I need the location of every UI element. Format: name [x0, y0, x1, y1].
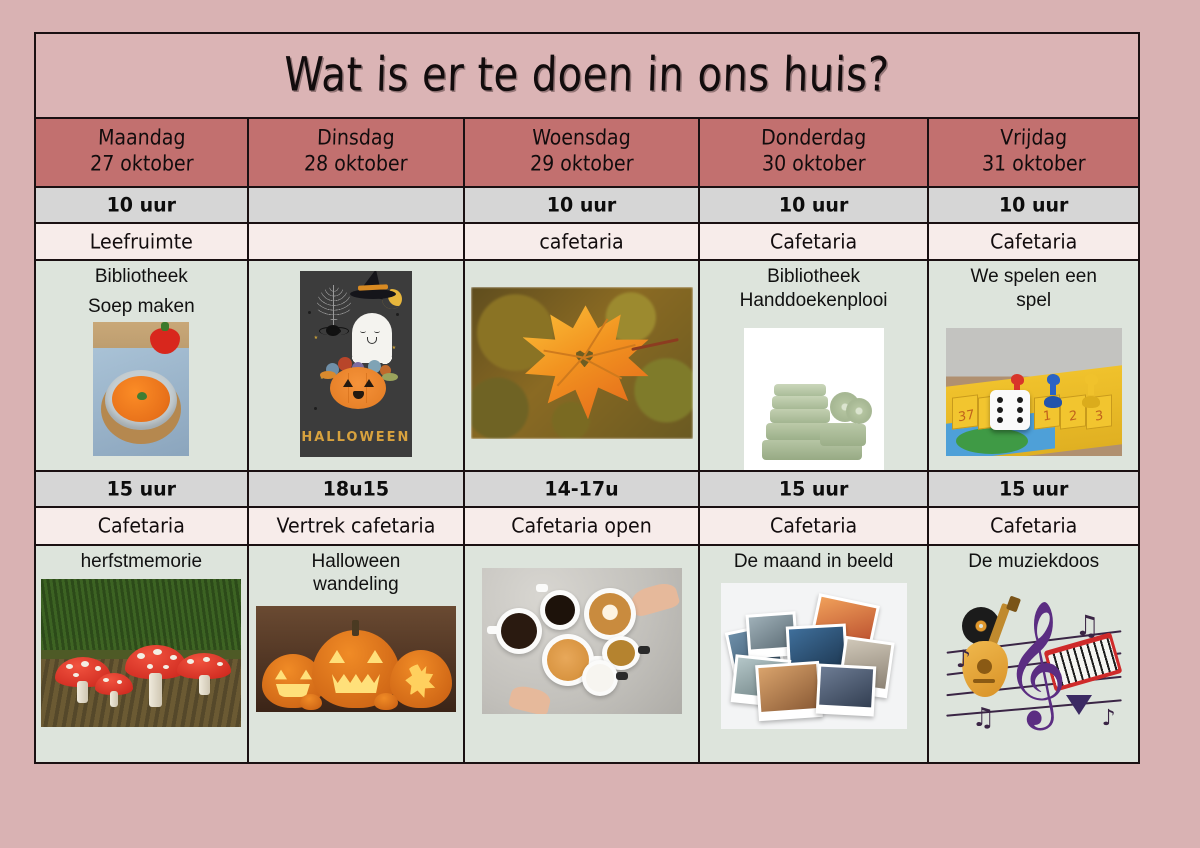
poster-page: Wat is er te doen in ons huis? Maandag 2… — [0, 0, 1200, 848]
location-label: Vertrek cafetaria — [276, 514, 435, 537]
metronome-icon — [1066, 695, 1092, 715]
coffee-cup — [582, 660, 618, 696]
afternoon-activity-cell-friday: De muziekdoos 𝄞 ♪ ♫ — [929, 546, 1138, 762]
time-label: 14-17u — [544, 477, 618, 500]
day-date: 30 oktober — [761, 152, 865, 179]
morning-location-cell-monday: Leefruimte — [36, 224, 249, 259]
morning-location-cell-friday: Cafetaria — [929, 224, 1138, 259]
spider-web-icon — [317, 287, 351, 321]
day-date: 29 oktober — [529, 152, 633, 179]
ghost-icon — [352, 313, 392, 363]
morning-time-cell-monday: 10 uur — [36, 188, 249, 222]
morning-activity-cell-thursday: Bibliotheek Handdoekenplooi — [700, 261, 930, 469]
music-note-icon: ♪ — [956, 645, 971, 673]
location-label: Cafetaria — [98, 514, 185, 537]
location-label: Cafetaria open — [511, 514, 652, 537]
game-pawn-blue — [1044, 374, 1062, 408]
activity-line-1: We spelen een — [929, 265, 1138, 288]
photo-collage — [721, 583, 907, 729]
spider-icon — [326, 325, 340, 336]
treble-clef-icon: 𝄞 — [1004, 609, 1068, 717]
morning-time-cell-friday: 10 uur — [929, 188, 1138, 222]
activity-line-1: Bibliotheek — [700, 265, 928, 288]
day-header-friday: Vrijdag 31 oktober — [929, 119, 1138, 186]
day-header-tuesday: Dinsdag 28 oktober — [249, 119, 466, 186]
morning-activity-row: Bibliotheek Soep maken — [36, 261, 1138, 471]
game-pawn-yellow — [1082, 374, 1100, 408]
time-label: 10 uur — [547, 193, 616, 216]
morning-location-cell-thursday: Cafetaria — [700, 224, 930, 259]
morning-location-cell-tuesday — [249, 224, 466, 259]
coffee-cups-photo — [482, 568, 682, 714]
day-name: Donderdag — [761, 126, 867, 153]
time-label: 15 uur — [107, 477, 176, 500]
location-label: Leefruimte — [90, 230, 193, 253]
morning-activity-cell-tuesday: HALLOWEEN — [249, 261, 466, 469]
board-number: 1 — [1042, 408, 1051, 424]
afternoon-location-cell-tuesday: Vertrek cafetaria — [249, 508, 466, 543]
day-date: 31 oktober — [982, 152, 1086, 179]
morning-time-cell-tuesday — [249, 188, 466, 222]
day-header-row: Maandag 27 oktober Dinsdag 28 oktober Wo… — [36, 119, 1138, 188]
mushrooms-photo — [41, 579, 241, 727]
day-date: 27 oktober — [89, 152, 193, 179]
day-header-monday: Maandag 27 oktober — [36, 119, 249, 186]
afternoon-activity-cell-monday: herfstmemorie — [36, 546, 249, 762]
afternoon-location-cell-wednesday: Cafetaria open — [465, 508, 700, 543]
halloween-poster: HALLOWEEN — [296, 267, 416, 461]
day-header-wednesday: Woensdag 29 oktober — [465, 119, 700, 186]
afternoon-time-cell-monday: 15 uur — [36, 472, 249, 506]
autumn-leaf-photo — [471, 287, 693, 439]
morning-activity-cell-monday: Bibliotheek Soep maken — [36, 261, 249, 469]
activity-line-1: Bibliotheek — [36, 265, 247, 288]
day-name: Woensdag — [532, 126, 632, 153]
afternoon-activity-cell-tuesday: Halloween wandeling — [249, 546, 466, 762]
morning-activity-cell-friday: We spelen een spel 37 1 2 3 — [929, 261, 1138, 469]
board-number: 2 — [1068, 408, 1077, 424]
folded-towels-photo — [744, 328, 884, 470]
afternoon-activity-cell-thursday: De maand in beeld — [700, 546, 930, 762]
time-label: 15 uur — [779, 477, 848, 500]
activity-schedule-table: Wat is er te doen in ons huis? Maandag 2… — [34, 32, 1140, 764]
day-name: Vrijdag — [1000, 126, 1068, 153]
soup-photo — [93, 322, 189, 456]
afternoon-activity-row: herfstmemorie — [36, 546, 1138, 762]
morning-time-cell-thursday: 10 uur — [700, 188, 930, 222]
day-header-thursday: Donderdag 30 oktober — [700, 119, 930, 186]
afternoon-location-row: Cafetaria Vertrek cafetaria Cafetaria op… — [36, 508, 1138, 545]
morning-time-row: 10 uur 10 uur 10 uur 10 uur — [36, 188, 1138, 224]
afternoon-time-cell-tuesday: 18u15 — [249, 472, 466, 506]
afternoon-activity-cell-wednesday — [465, 546, 700, 762]
afternoon-location-cell-thursday: Cafetaria — [700, 508, 930, 543]
afternoon-time-row: 15 uur 18u15 14-17u 15 uur 15 uur — [36, 472, 1138, 508]
afternoon-time-cell-thursday: 15 uur — [700, 472, 930, 506]
board-game-photo: 37 1 2 3 — [946, 328, 1122, 456]
day-name: Dinsdag — [317, 126, 395, 153]
location-label: Cafetaria — [990, 230, 1077, 253]
activity-line-2: wandeling — [249, 573, 464, 596]
activity-line-1: De maand in beeld — [700, 550, 928, 573]
activity-line-1: herfstmemorie — [36, 550, 247, 573]
activity-line-2: Soep maken — [36, 295, 247, 318]
time-label: 18u15 — [323, 477, 389, 500]
afternoon-location-cell-monday: Cafetaria — [36, 508, 249, 543]
music-clipart: 𝄞 ♪ ♫ ♫ ♪ — [946, 589, 1122, 739]
activity-line-2: Handdoekenplooi — [700, 289, 928, 312]
day-date: 28 oktober — [304, 152, 408, 179]
location-label: Cafetaria — [990, 514, 1077, 537]
halloween-caption: HALLOWEEN — [300, 430, 412, 445]
morning-time-cell-wednesday: 10 uur — [465, 188, 700, 222]
board-number: 3 — [1094, 408, 1103, 424]
time-label: 15 uur — [999, 477, 1068, 500]
activity-line-1: De muziekdoos — [929, 550, 1138, 573]
afternoon-time-cell-wednesday: 14-17u — [465, 472, 700, 506]
afternoon-time-cell-friday: 15 uur — [929, 472, 1138, 506]
dice-icon — [990, 390, 1030, 430]
jack-o-lanterns-photo — [256, 606, 456, 712]
mushroom-icon — [177, 653, 231, 693]
coffee-cup — [584, 588, 636, 640]
morning-activity-cell-wednesday — [465, 261, 700, 469]
music-note-icon: ♪ — [1102, 706, 1116, 731]
time-label: 10 uur — [999, 193, 1068, 216]
morning-location-row: Leefruimte cafetaria Cafetaria Cafetaria — [36, 224, 1138, 261]
board-number: 37 — [957, 407, 975, 425]
music-note-icon: ♫ — [972, 703, 995, 733]
afternoon-location-cell-friday: Cafetaria — [929, 508, 1138, 543]
coffee-cup — [496, 608, 542, 654]
music-note-icon: ♫ — [1075, 609, 1100, 642]
morning-location-cell-wednesday: cafetaria — [465, 224, 700, 259]
time-label: 10 uur — [779, 193, 848, 216]
time-label: 10 uur — [107, 193, 176, 216]
location-label: Cafetaria — [770, 230, 857, 253]
activity-line-1: Halloween — [249, 550, 464, 573]
location-label: cafetaria — [539, 230, 623, 253]
pumpkin-icon — [330, 367, 386, 409]
location-label: Cafetaria — [770, 514, 857, 537]
activity-line-2: spel — [929, 289, 1138, 312]
day-name: Maandag — [97, 126, 185, 153]
jack-o-lantern-icon — [390, 650, 452, 708]
page-title: Wat is er te doen in ons huis? — [284, 48, 891, 102]
coffee-cup — [540, 590, 580, 630]
poster-title-band: Wat is er te doen in ons huis? — [36, 34, 1138, 119]
